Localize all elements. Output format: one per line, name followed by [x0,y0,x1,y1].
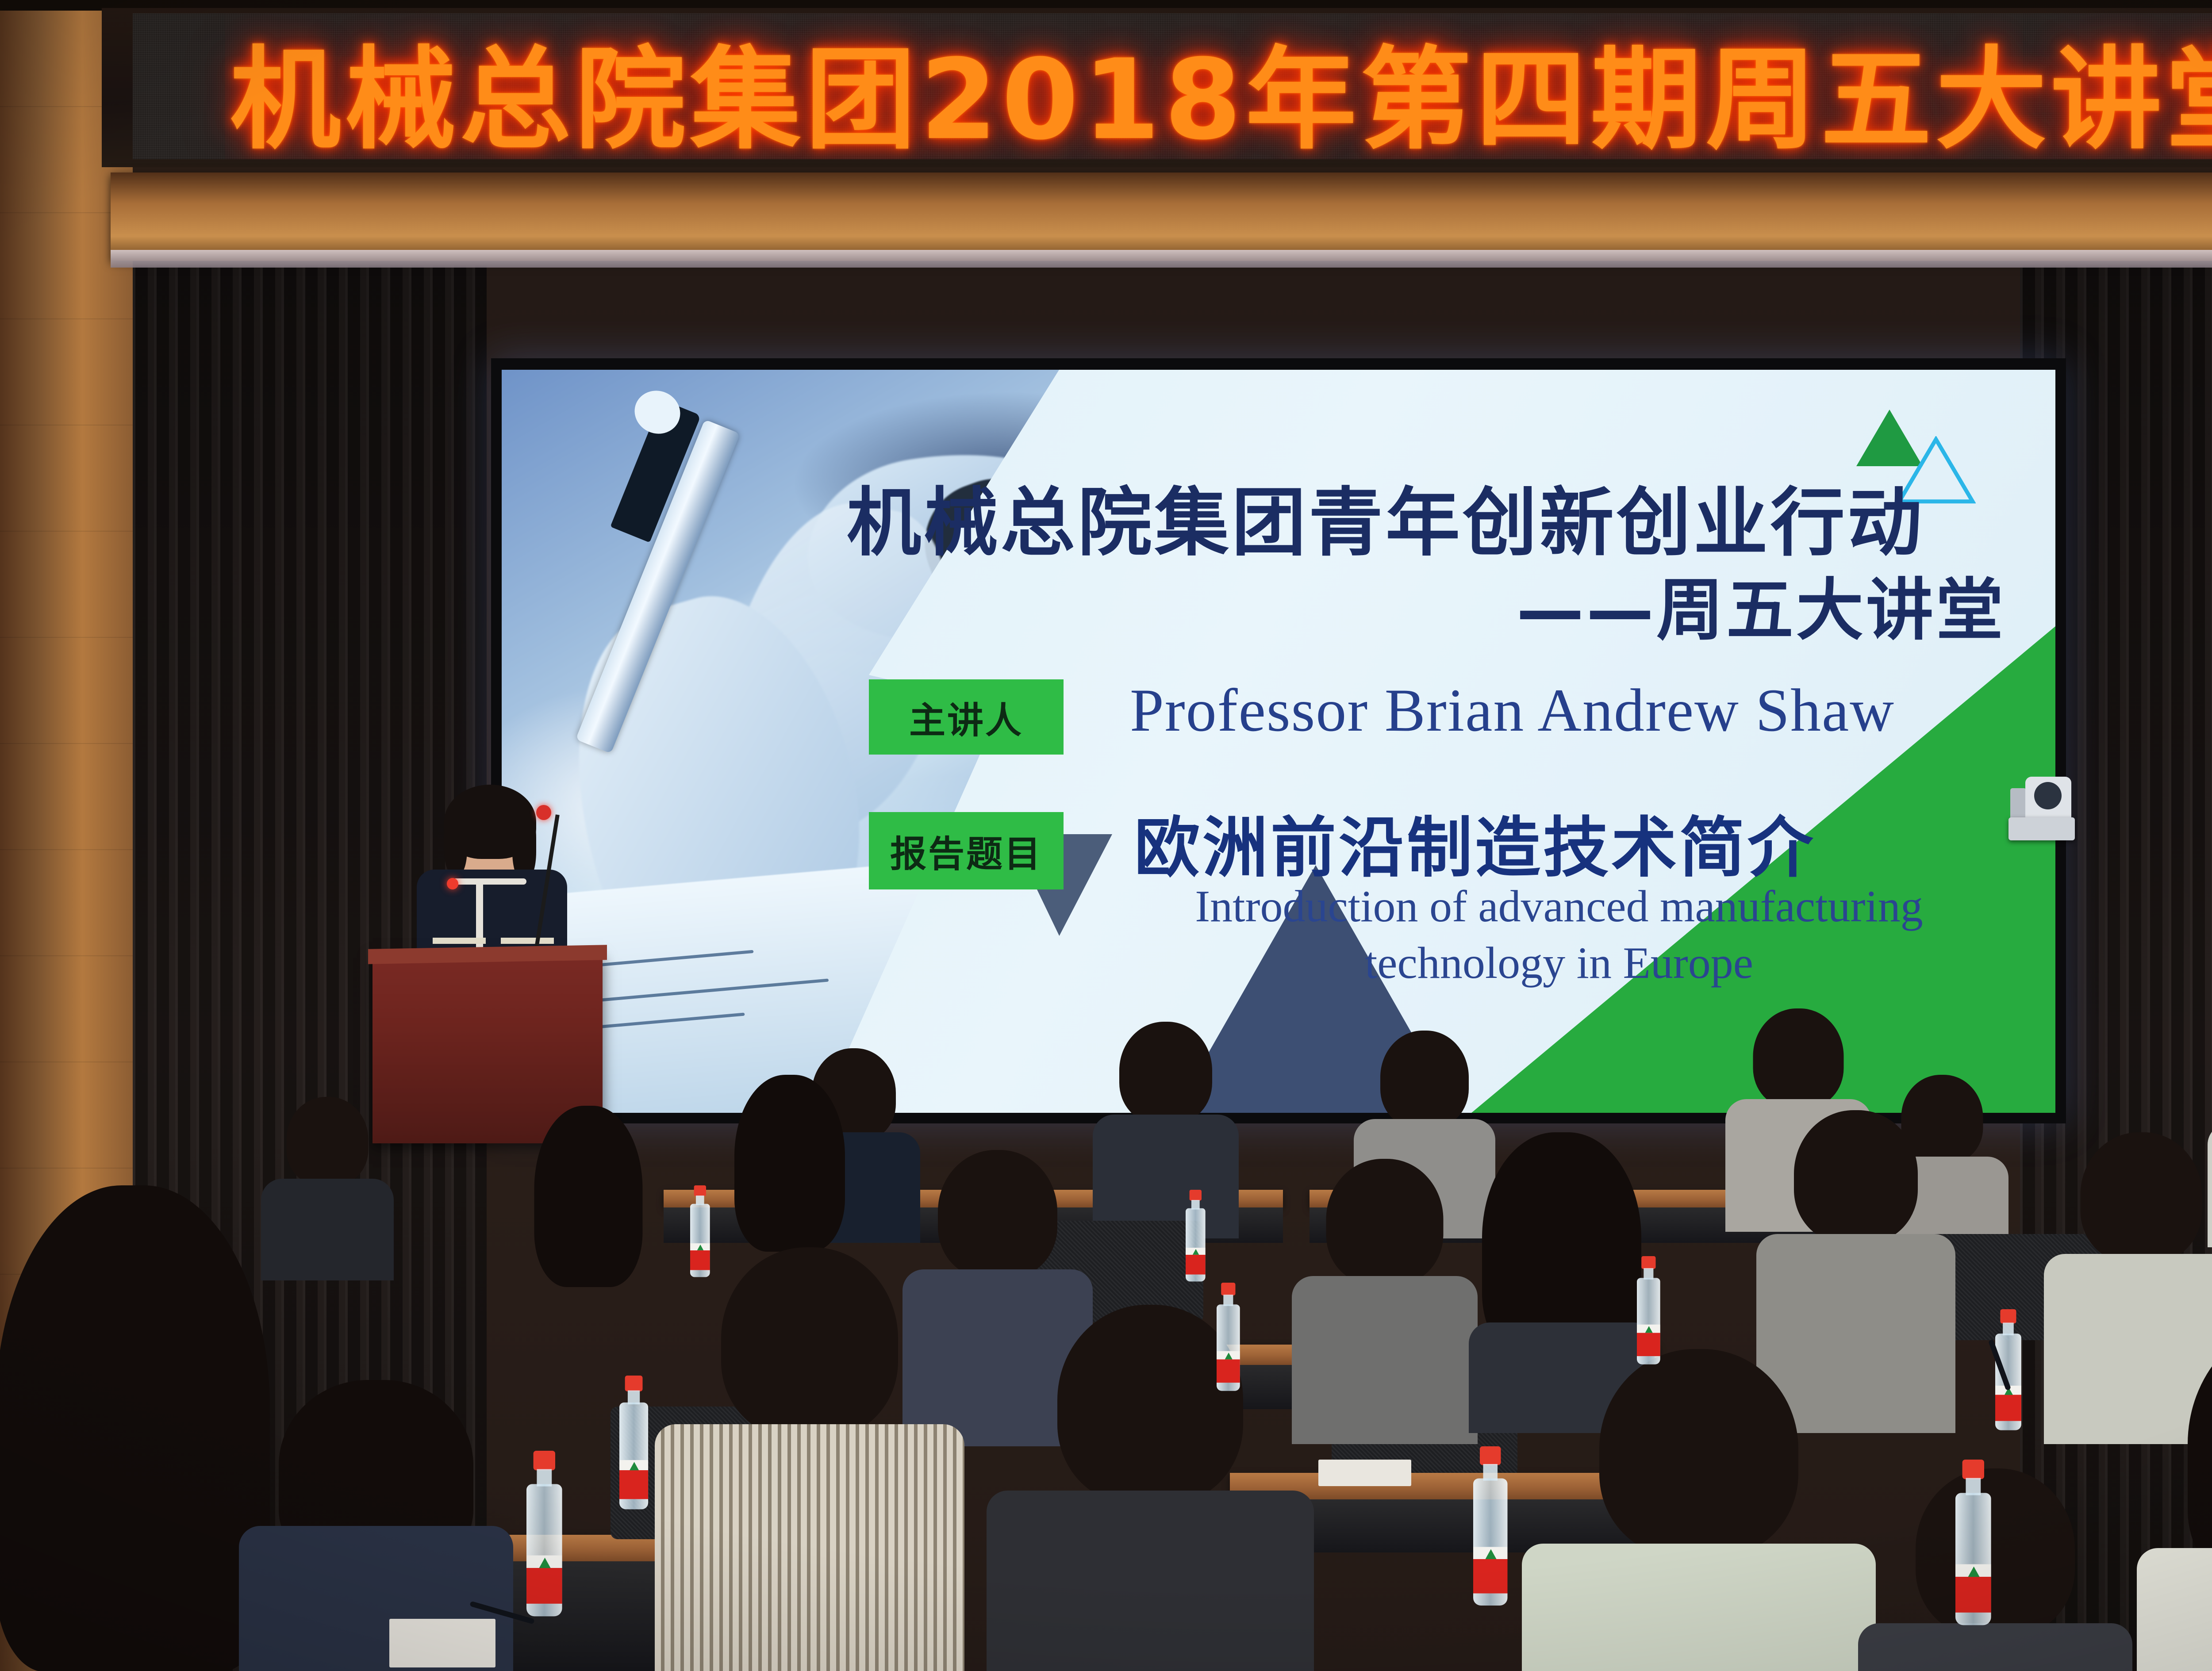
presenter-badge-light [447,878,458,889]
audience-person [1858,1468,2132,1671]
slide-topic-label: 报告题目 [869,812,1064,889]
audience-person [655,1247,964,1671]
microphone-indicator [536,805,551,820]
presentation-slide: 机械总院集团青年创新创业行动 ——周五大讲堂 主讲人 Professor Bri… [502,370,2055,1113]
jacket-trim-placket [476,885,483,955]
audience-person [1522,1349,1876,1671]
jacket-trim-pocket-left [433,938,486,944]
led-banner-board: 机械总院集团2018年第四期周五大讲堂 [133,13,2212,159]
camera-lens [2034,782,2062,809]
slide-subtitle: ——周五大讲堂 [847,556,2006,653]
slide-speaker-name: Professor Brian Andrew Shaw [1130,675,1895,745]
desk-paper [389,1619,495,1667]
desk-paper [1318,1460,1411,1486]
slide-title: 机械总院集团青年创新创业行动 [847,463,2006,570]
audience-person [1292,1159,1478,1433]
slide-speaker-label: 主讲人 [869,679,1064,755]
audience-person [522,1106,655,1283]
slide-topic-english: Introduction of advanced manufacturing t… [1183,878,1935,991]
audience-person [987,1305,1314,1671]
audience-person [2137,1318,2212,1671]
jacket-trim-pocket-right [501,938,554,944]
lit-wood-beam [111,172,2212,261]
audience-person [1093,1022,1239,1230]
jacket-trim-collar [451,878,526,885]
ptz-camera-icon [2008,770,2075,840]
slide-topic-chinese: 欧洲前沿制造技术简介 [1134,794,1816,889]
camera-base [2008,817,2075,840]
led-banner-text: 机械总院集团2018年第四期周五大讲堂 [230,13,2212,159]
audience-person [726,1075,854,1247]
lecture-hall-photo: 机械总院集团2018年第四期周五大讲堂 [0,0,2212,1671]
presenter-hair-left [444,809,467,876]
beam-light-strip [111,250,2212,268]
